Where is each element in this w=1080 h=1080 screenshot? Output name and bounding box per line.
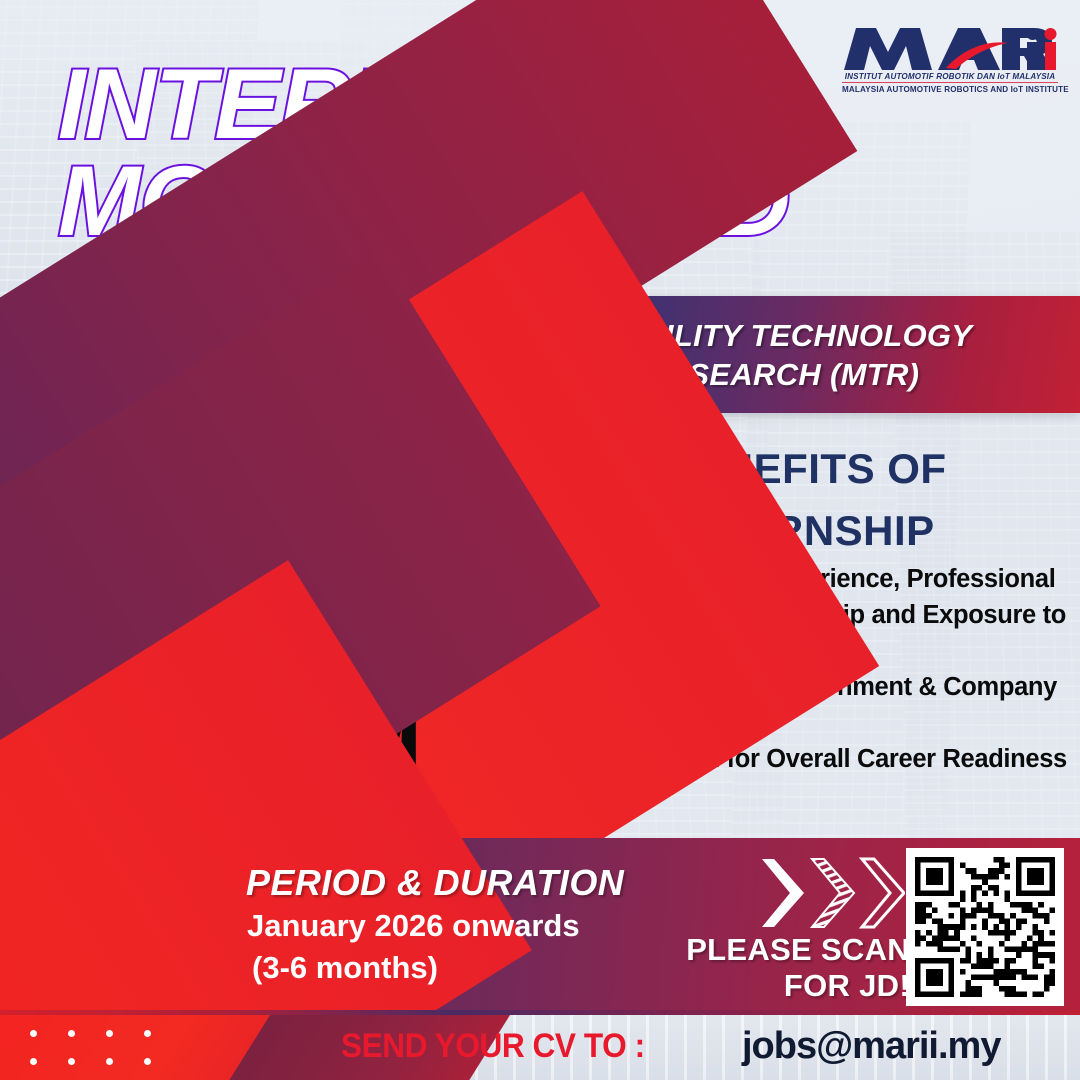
send-cv-label: SEND YOUR CV TO :: [341, 1027, 645, 1066]
period-title: PERIOD & DURATION: [246, 862, 624, 904]
chevron-solid-icon: [762, 859, 804, 927]
dot-pattern-decoration: [30, 1030, 182, 1080]
logo-tagline-malay: INSTITUT AUTOMOTIF ROBOTIK DAN IoT MALAY…: [842, 72, 1058, 83]
chevron-striped-icon: [812, 859, 854, 927]
marii-logo: INSTITUT AUTOMOTIF ROBOTIK DAN IoT MALAY…: [842, 26, 1058, 94]
scan-instruction: PLEASE SCAN FOR JD!: [630, 932, 910, 1004]
poster-canvas: INTERN MOST WANTED INSTITUT AUTOMOTIF RO…: [0, 0, 1080, 1080]
marii-logo-icon: [842, 26, 1058, 72]
period-line-2: (3-6 months): [252, 950, 438, 986]
footer-top-accent-line: [0, 1010, 1080, 1015]
period-line-1: January 2026 onwards: [247, 908, 580, 944]
footer-bar: SEND YOUR CV TO : jobs@marii.my: [0, 1010, 1080, 1080]
chevron-outline-icon: [862, 859, 904, 927]
chevron-arrows-group: [760, 855, 905, 931]
scan-line-1: PLEASE SCAN: [686, 932, 910, 967]
scan-line-2: FOR JD!: [784, 968, 910, 1003]
logo-tagline-english: MALAYSIA AUTOMOTIVE ROBOTICS AND IoT INS…: [842, 85, 1058, 94]
qr-code[interactable]: [906, 848, 1064, 1006]
qr-code-image[interactable]: [915, 857, 1055, 997]
contact-email[interactable]: jobs@marii.my: [742, 1025, 1000, 1068]
